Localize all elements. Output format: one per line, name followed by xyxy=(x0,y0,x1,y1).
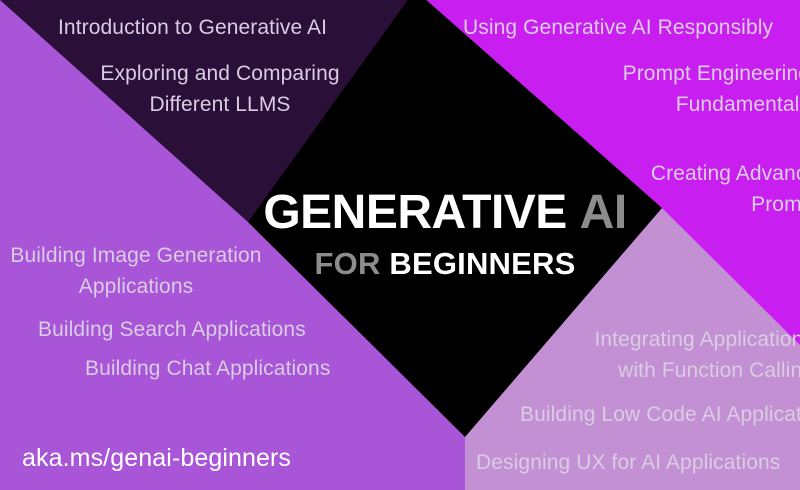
module-label-building-search-applications[interactable]: Building Search Applications xyxy=(38,314,306,345)
module-label-creating-advanced-prompts[interactable]: Creating Advanced Prompts xyxy=(600,158,800,220)
module-label-integrating-applications-function-calling[interactable]: Integrating Applications with Function C… xyxy=(560,324,800,386)
genai-course-banner: Introduction to Generative AI Exploring … xyxy=(0,0,800,490)
module-label-prompt-engineering-fundamentals[interactable]: Prompt Engineering Fundamentals xyxy=(560,58,800,120)
module-label-designing-ux-for-ai-applications[interactable]: Designing UX for AI Applications xyxy=(476,447,780,478)
module-label-introduction[interactable]: Introduction to Generative AI xyxy=(58,12,327,43)
module-label-using-genai-responsibly[interactable]: Using Generative AI Responsibly xyxy=(463,12,773,43)
module-label-building-low-code-ai-applications[interactable]: Building Low Code AI Applications xyxy=(520,399,800,430)
footer-url-link[interactable]: aka.ms/genai-beginners xyxy=(22,444,291,473)
module-label-building-image-generation-applications[interactable]: Building Image Generation Applications xyxy=(0,240,272,302)
module-label-exploring-comparing-llms[interactable]: Exploring and Comparing Different LLMS xyxy=(90,58,350,120)
module-label-building-chat-applications[interactable]: Building Chat Applications xyxy=(85,353,330,384)
